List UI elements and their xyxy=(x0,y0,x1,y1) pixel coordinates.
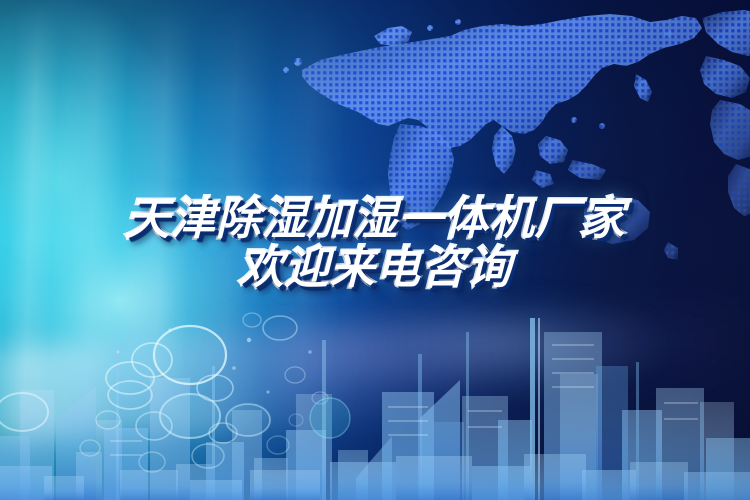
vignette-overlay xyxy=(0,0,750,500)
promo-banner: 天津除湿加湿一体机厂家 欢迎来电咨询 xyxy=(0,0,750,500)
